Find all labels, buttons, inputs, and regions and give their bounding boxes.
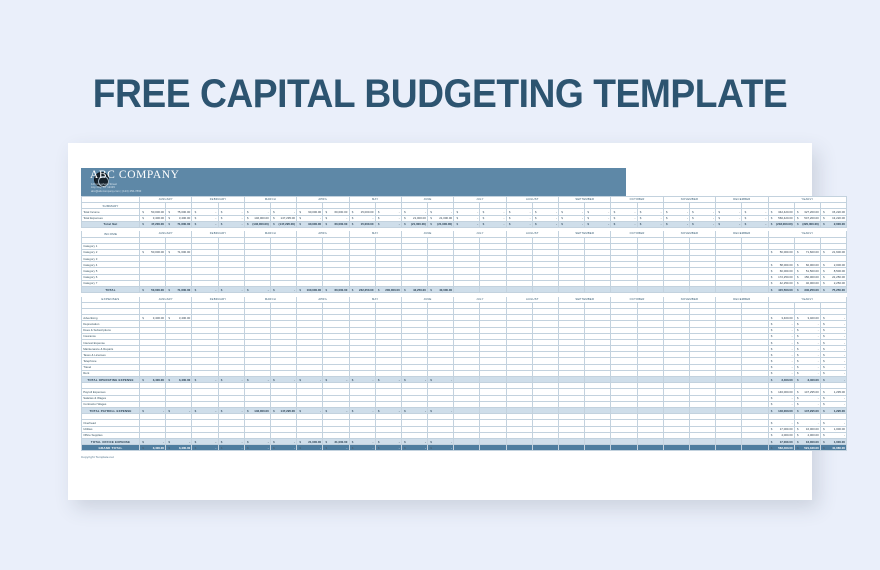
amount-cell (559, 445, 585, 451)
currency-symbol: $ (796, 433, 799, 437)
currency-symbol: $ (770, 446, 773, 450)
currency-symbol: $ (822, 210, 825, 214)
amount-cell: $- (270, 287, 296, 293)
currency-symbol: $ (717, 216, 720, 220)
amount-cell (506, 377, 532, 383)
under-over-cell: $75,250.00 (820, 287, 846, 293)
amount-cell (663, 377, 689, 383)
currency-symbol: $ (770, 322, 773, 326)
currency-symbol: $ (796, 353, 799, 357)
currency-symbol: $ (325, 288, 328, 292)
currency-symbol: $ (770, 440, 773, 444)
currency-symbol: $ (403, 216, 406, 220)
currency-symbol: $ (325, 409, 328, 413)
currency-symbol: $ (377, 446, 380, 450)
amount-cell: $- (428, 377, 454, 383)
currency-symbol: $ (325, 210, 328, 214)
currency-symbol: $ (272, 378, 275, 382)
currency-symbol: $ (796, 216, 799, 220)
currency-symbol: $ (298, 446, 301, 450)
amount-cell (742, 287, 768, 293)
amount-cell: $- (323, 377, 349, 383)
currency-symbol: $ (665, 210, 668, 214)
currency-symbol: $ (246, 210, 249, 214)
amount-cell: $- (349, 407, 375, 413)
currency-symbol: $ (325, 440, 328, 444)
currency-symbol: $ (167, 316, 170, 320)
currency-symbol: $ (770, 353, 773, 357)
under-over-cell: $2,000.00 (820, 221, 846, 227)
currency-symbol: $ (822, 216, 825, 220)
template-preview-card: ABC COMPANY 123 Anywhere Street Any City… (68, 143, 812, 500)
page-root: FREE CAPITAL BUDGETING TEMPLATE ABC COMP… (0, 0, 880, 570)
amount-cell: $- (375, 407, 401, 413)
currency-symbol: $ (298, 288, 301, 292)
amount-cell: $- (192, 445, 218, 451)
currency-symbol: $ (508, 210, 511, 214)
currency-symbol: $ (796, 402, 799, 406)
table-row: TOTAL$50,000.00$71,600.00$-$-$-$-$100,00… (82, 287, 847, 293)
currency-symbol: $ (272, 288, 275, 292)
amount-cell (611, 407, 637, 413)
amount-cell (716, 407, 742, 413)
amount-cell (611, 445, 637, 451)
table-row: GRAND TOTAL$3,400.00$3,400.00$-$-$-$-$-$… (82, 445, 847, 451)
amount-cell: $- (742, 221, 768, 227)
amount-cell (585, 445, 611, 451)
yearly-budget-cell: $3,400.00 (768, 377, 794, 383)
currency-symbol: $ (822, 409, 825, 413)
amount-cell: $- (323, 445, 349, 451)
amount-cell: $- (585, 221, 611, 227)
currency-symbol: $ (796, 316, 799, 320)
currency-symbol: $ (429, 210, 432, 214)
currency-symbol: $ (272, 440, 275, 444)
currency-symbol: $ (586, 210, 589, 214)
currency-symbol: $ (744, 222, 747, 226)
currency-symbol: $ (796, 275, 799, 279)
currency-symbol: $ (770, 402, 773, 406)
currency-symbol: $ (770, 427, 773, 431)
amount-cell (585, 287, 611, 293)
company-contact: abc@abccompany.com | (123) 456-7890 (91, 190, 141, 193)
currency-symbol: $ (770, 316, 773, 320)
currency-symbol: $ (822, 347, 825, 351)
currency-symbol: $ (167, 210, 170, 214)
currency-symbol: $ (717, 222, 720, 226)
currency-symbol: $ (770, 216, 773, 220)
amount-cell: $60,000.00 (323, 221, 349, 227)
currency-symbol: $ (141, 216, 144, 220)
currency-symbol: $ (298, 378, 301, 382)
amount-cell (689, 377, 715, 383)
amount-cell (742, 377, 768, 383)
currency-symbol: $ (141, 378, 144, 382)
currency-symbol: $ (665, 216, 668, 220)
currency-symbol: $ (403, 210, 406, 214)
amount-cell (532, 407, 558, 413)
currency-symbol: $ (220, 216, 223, 220)
currency-symbol: $ (429, 288, 432, 292)
currency-symbol: $ (220, 409, 223, 413)
amount-cell: $15,000.00 (349, 221, 375, 227)
amount-cell: $71,600.00 (166, 221, 192, 227)
currency-symbol: $ (167, 222, 170, 226)
currency-symbol: $ (272, 446, 275, 450)
amount-cell: $- (532, 221, 558, 227)
currency-symbol: $ (822, 365, 825, 369)
currency-symbol: $ (455, 216, 458, 220)
currency-symbol: $ (822, 440, 825, 444)
amount-cell (663, 287, 689, 293)
currency-symbol: $ (796, 390, 799, 394)
currency-symbol: $ (796, 222, 799, 226)
currency-symbol: $ (744, 216, 747, 220)
currency-symbol: $ (377, 210, 380, 214)
amount-cell (532, 287, 558, 293)
amount-cell: $- (218, 377, 244, 383)
amount-cell: $- (166, 407, 192, 413)
currency-symbol: $ (141, 316, 144, 320)
currency-symbol: $ (796, 210, 799, 214)
amount-cell: $- (349, 377, 375, 383)
currency-symbol: $ (613, 222, 616, 226)
amount-cell (532, 445, 558, 451)
amount-cell: $- (611, 221, 637, 227)
currency-symbol: $ (246, 409, 249, 413)
currency-symbol: $ (246, 222, 249, 226)
amount-cell: $- (401, 377, 427, 383)
currency-symbol: $ (639, 216, 642, 220)
currency-symbol: $ (403, 446, 406, 450)
currency-symbol: $ (482, 222, 485, 226)
currency-symbol: $ (770, 390, 773, 394)
currency-symbol: $ (167, 250, 170, 254)
currency-symbol: $ (351, 446, 354, 450)
currency-symbol: $ (194, 222, 197, 226)
currency-symbol: $ (586, 216, 589, 220)
currency-symbol: $ (220, 440, 223, 444)
currency-symbol: $ (560, 210, 563, 214)
currency-symbol: $ (194, 216, 197, 220)
currency-symbol: $ (796, 421, 799, 425)
currency-symbol: $ (455, 222, 458, 226)
currency-symbol: $ (272, 409, 275, 413)
amount-cell (663, 445, 689, 451)
amount-cell (559, 287, 585, 293)
yearly-actual-cell: $3,400.00 (794, 377, 820, 383)
currency-symbol: $ (770, 347, 773, 351)
amount-cell (480, 377, 506, 383)
yearly-budget-cell: $(218,000.00) (768, 221, 794, 227)
currency-symbol: $ (377, 440, 380, 444)
currency-symbol: $ (403, 440, 406, 444)
currency-symbol: $ (822, 288, 825, 292)
currency-symbol: $ (246, 446, 249, 450)
amount-cell: $200,000.00 (375, 287, 401, 293)
amount-cell: $- (401, 445, 427, 451)
amount-cell: $42,250.00 (401, 287, 427, 293)
currency-symbol: $ (351, 216, 354, 220)
currency-symbol: $ (220, 288, 223, 292)
currency-symbol: $ (822, 250, 825, 254)
amount-cell: $- (323, 407, 349, 413)
currency-symbol: $ (822, 427, 825, 431)
currency-symbol: $ (377, 378, 380, 382)
currency-symbol: $ (272, 210, 275, 214)
currency-symbol: $ (194, 378, 197, 382)
amount-cell: $- (218, 445, 244, 451)
amount-cell: $232,250.00 (349, 287, 375, 293)
currency-symbol: $ (770, 421, 773, 425)
currency-symbol: $ (639, 210, 642, 214)
amount-cell (611, 377, 637, 383)
currency-symbol: $ (822, 316, 825, 320)
amount-cell: $- (244, 445, 270, 451)
currency-symbol: $ (822, 275, 825, 279)
amount-cell: $- (559, 221, 585, 227)
currency-symbol: $ (770, 396, 773, 400)
amount-cell: $90,000.00 (297, 221, 323, 227)
amount-cell: $40,000.00 (428, 287, 454, 293)
currency-symbol: $ (429, 446, 432, 450)
currency-symbol: $ (691, 222, 694, 226)
currency-symbol: $ (167, 409, 170, 413)
currency-symbol: $ (770, 328, 773, 332)
amount-cell: $3,400.00 (166, 445, 192, 451)
currency-symbol: $ (613, 210, 616, 214)
currency-symbol: $ (770, 409, 773, 413)
copyright-note: Copyright Template.net (81, 455, 799, 459)
currency-symbol: $ (167, 288, 170, 292)
amount-cell (506, 445, 532, 451)
amount-cell: $- (297, 407, 323, 413)
amount-cell: $- (637, 221, 663, 227)
currency-symbol: $ (194, 446, 197, 450)
amount-cell: $(21,000.00) (428, 221, 454, 227)
currency-symbol: $ (351, 222, 354, 226)
currency-symbol: $ (770, 371, 773, 375)
page-title: FREE CAPITAL BUDGETING TEMPLATE (31, 72, 849, 117)
amount-cell: $- (401, 407, 427, 413)
currency-symbol: $ (822, 328, 825, 332)
amount-cell: $- (349, 445, 375, 451)
amount-cell (611, 287, 637, 293)
currency-symbol: $ (403, 222, 406, 226)
currency-symbol: $ (351, 288, 354, 292)
amount-cell: $- (375, 377, 401, 383)
currency-symbol: $ (770, 275, 773, 279)
amount-cell: $- (375, 445, 401, 451)
currency-symbol: $ (770, 269, 773, 273)
currency-symbol: $ (770, 288, 773, 292)
currency-symbol: $ (822, 402, 825, 406)
currency-symbol: $ (770, 433, 773, 437)
currency-symbol: $ (377, 222, 380, 226)
amount-cell: $- (140, 407, 166, 413)
amount-cell: $- (716, 221, 742, 227)
currency-symbol: $ (534, 216, 537, 220)
amount-cell: $- (689, 221, 715, 227)
currency-symbol: $ (796, 322, 799, 326)
currency-symbol: $ (429, 378, 432, 382)
currency-symbol: $ (246, 440, 249, 444)
currency-symbol: $ (429, 216, 432, 220)
currency-symbol: $ (246, 378, 249, 382)
currency-symbol: $ (482, 210, 485, 214)
currency-symbol: $ (796, 378, 799, 382)
currency-symbol: $ (141, 409, 144, 413)
currency-symbol: $ (246, 288, 249, 292)
currency-symbol: $ (508, 216, 511, 220)
currency-symbol: $ (325, 222, 328, 226)
amount-cell (689, 445, 715, 451)
currency-symbol: $ (429, 222, 432, 226)
amount-cell: $- (270, 445, 296, 451)
currency-symbol: $ (770, 250, 773, 254)
currency-symbol: $ (822, 378, 825, 382)
yearly-actual-cell: $(220,000.00) (794, 221, 820, 227)
currency-symbol: $ (770, 210, 773, 214)
currency-symbol: $ (822, 446, 825, 450)
amount-cell (742, 445, 768, 451)
currency-symbol: $ (141, 210, 144, 214)
amount-cell (742, 407, 768, 413)
currency-symbol: $ (796, 250, 799, 254)
amount-cell (585, 377, 611, 383)
currency-symbol: $ (194, 288, 197, 292)
currency-symbol: $ (796, 281, 799, 285)
currency-symbol: $ (194, 440, 197, 444)
currency-symbol: $ (167, 446, 170, 450)
under-over-cell: $1,295.00 (820, 407, 846, 413)
table-row: TOTAL OPERATING EXPENSE$3,400.00$3,400.0… (82, 377, 847, 383)
currency-symbol: $ (770, 341, 773, 345)
amount-cell (454, 287, 480, 293)
currency-symbol: $ (351, 378, 354, 382)
amount-cell: $- (480, 221, 506, 227)
amount-cell: $- (297, 445, 323, 451)
currency-symbol: $ (141, 250, 144, 254)
currency-symbol: $ (691, 210, 694, 214)
currency-symbol: $ (770, 378, 773, 382)
amount-cell (663, 407, 689, 413)
currency-symbol: $ (796, 446, 799, 450)
amount-cell (506, 287, 532, 293)
currency-symbol: $ (377, 409, 380, 413)
currency-symbol: $ (429, 440, 432, 444)
amount-cell: $3,400.00 (140, 377, 166, 383)
amount-cell (559, 407, 585, 413)
currency-symbol: $ (534, 222, 537, 226)
amount-cell: $- (375, 221, 401, 227)
amount-cell: $- (454, 221, 480, 227)
amount-cell (637, 407, 663, 413)
currency-symbol: $ (770, 281, 773, 285)
amount-cell (532, 377, 558, 383)
currency-symbol: $ (796, 288, 799, 292)
amount-cell: $- (192, 407, 218, 413)
amount-cell (480, 407, 506, 413)
table-row: Total Net$47,200.00$71,600.00$-$-$(146,0… (82, 221, 847, 227)
currency-symbol: $ (351, 440, 354, 444)
amount-cell: $- (244, 377, 270, 383)
currency-symbol: $ (403, 288, 406, 292)
currency-symbol: $ (822, 371, 825, 375)
currency-symbol: $ (796, 440, 799, 444)
amount-cell: $- (218, 287, 244, 293)
amount-cell (454, 445, 480, 451)
currency-symbol: $ (141, 288, 144, 292)
currency-symbol: $ (822, 341, 825, 345)
currency-symbol: $ (796, 409, 799, 413)
currency-symbol: $ (770, 222, 773, 226)
amount-cell: $(21,000.00) (401, 221, 427, 227)
currency-symbol: $ (220, 222, 223, 226)
currency-symbol: $ (822, 281, 825, 285)
amount-cell: $47,200.00 (140, 221, 166, 227)
amount-cell (585, 407, 611, 413)
currency-symbol: $ (141, 446, 144, 450)
currency-symbol: $ (298, 216, 301, 220)
currency-symbol: $ (770, 365, 773, 369)
yearly-budget-cell: $415,500.00 (768, 287, 794, 293)
currency-symbol: $ (167, 216, 170, 220)
currency-symbol: $ (639, 222, 642, 226)
amount-cell: $147,295.00 (270, 407, 296, 413)
currency-symbol: $ (822, 353, 825, 357)
currency-symbol: $ (351, 210, 354, 214)
currency-symbol: $ (508, 222, 511, 226)
currency-symbol: $ (796, 269, 799, 273)
yearly-actual-cell: $340,250.00 (794, 287, 820, 293)
amount-cell: $3,400.00 (166, 377, 192, 383)
currency-symbol: $ (482, 216, 485, 220)
yearly-budget-cell: $562,400.00 (768, 445, 794, 451)
currency-symbol: $ (665, 222, 668, 226)
amount-cell (559, 377, 585, 383)
amount-cell: $- (192, 287, 218, 293)
amount-cell: $71,600.00 (166, 287, 192, 293)
currency-symbol: $ (325, 378, 328, 382)
currency-symbol: $ (796, 359, 799, 363)
amount-cell (689, 287, 715, 293)
amount-cell: $- (428, 445, 454, 451)
currency-symbol: $ (272, 222, 275, 226)
amount-cell (480, 445, 506, 451)
amount-cell (637, 445, 663, 451)
amount-cell: $3,400.00 (140, 445, 166, 451)
amount-cell (716, 445, 742, 451)
currency-symbol: $ (717, 210, 720, 214)
currency-symbol: $ (770, 263, 773, 267)
currency-symbol: $ (455, 210, 458, 214)
currency-symbol: $ (796, 371, 799, 375)
amount-cell: $(147,295.00) (270, 221, 296, 227)
currency-symbol: $ (796, 396, 799, 400)
amount-cell: $50,000.00 (140, 287, 166, 293)
currency-symbol: $ (377, 216, 380, 220)
currency-symbol: $ (167, 440, 170, 444)
currency-symbol: $ (796, 341, 799, 345)
currency-symbol: $ (822, 421, 825, 425)
currency-symbol: $ (403, 409, 406, 413)
currency-symbol: $ (586, 222, 589, 226)
currency-symbol: $ (325, 446, 328, 450)
currency-symbol: $ (377, 288, 380, 292)
currency-symbol: $ (298, 222, 301, 226)
currency-symbol: $ (822, 269, 825, 273)
